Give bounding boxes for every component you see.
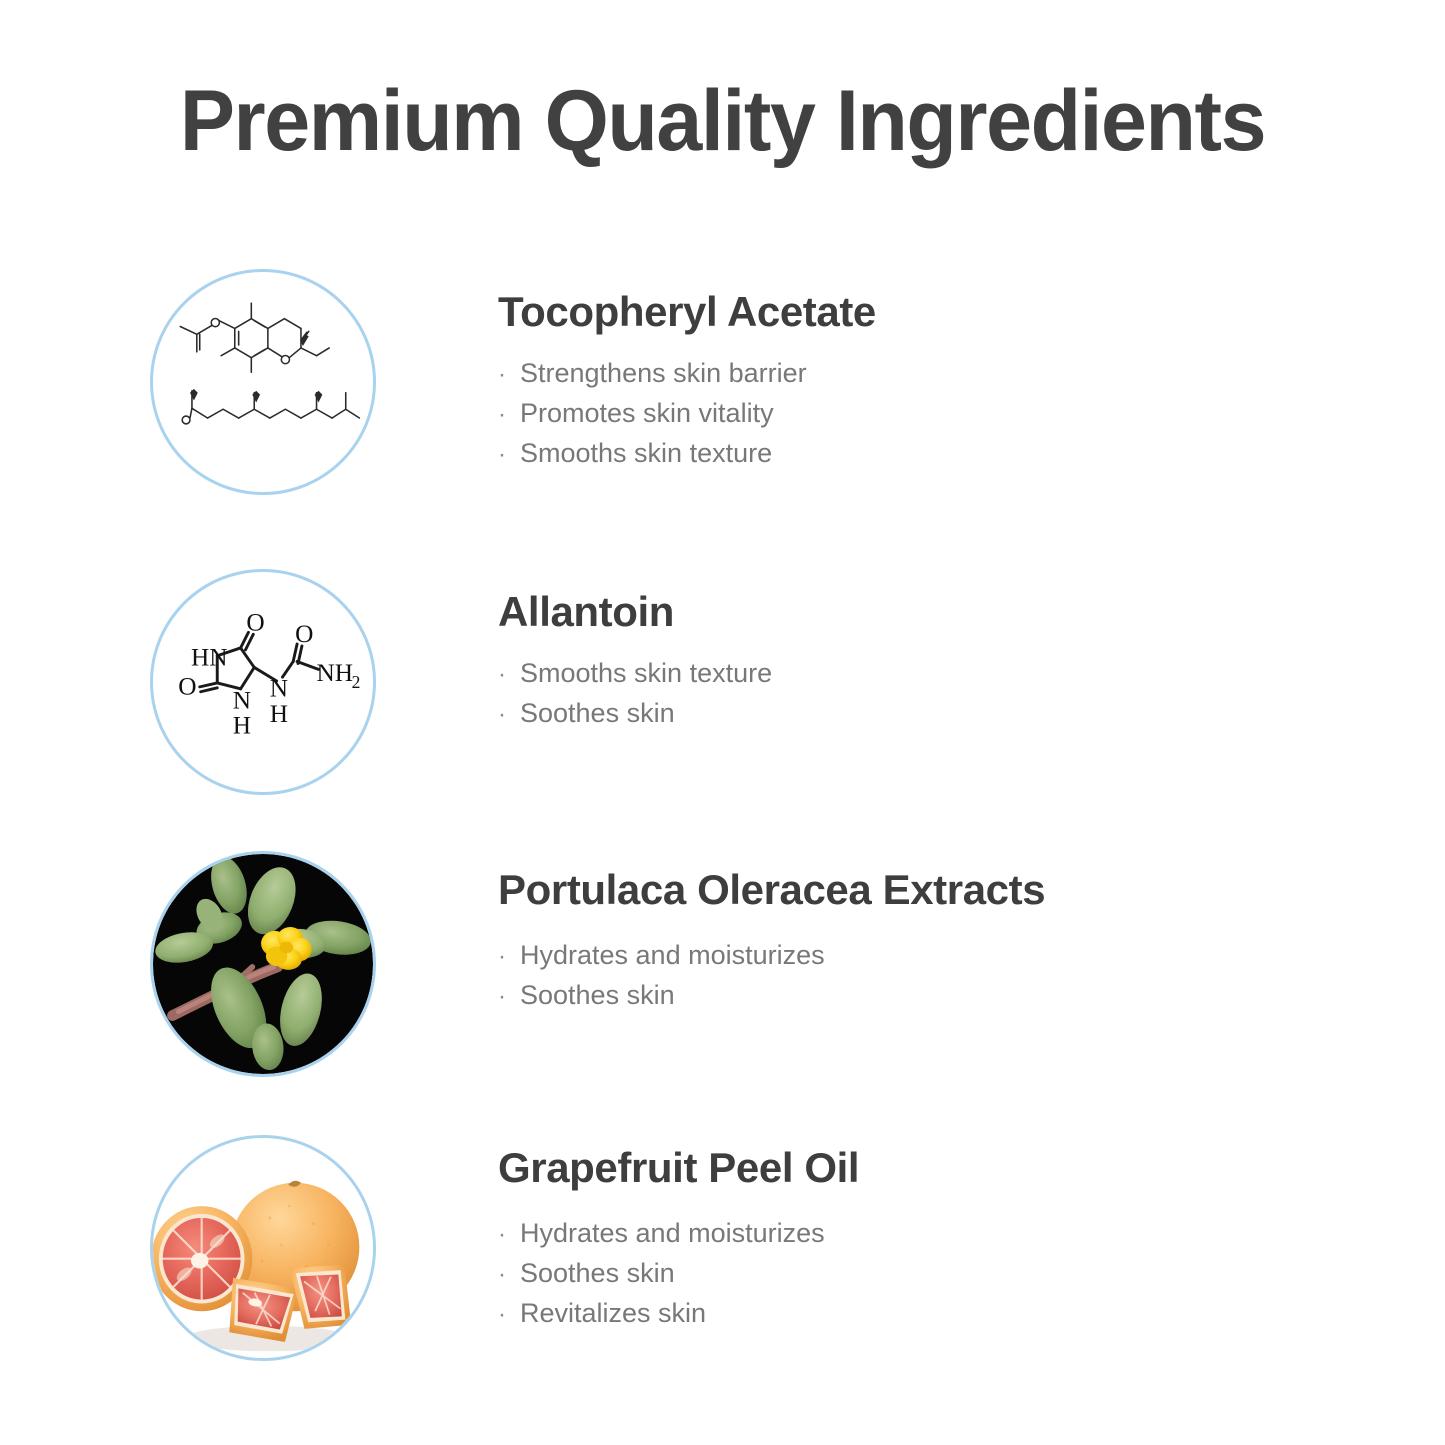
ingredient-text-block: Tocopheryl Acetate ·Strengthens skin bar…: [498, 258, 1318, 480]
ingredient-title: Grapefruit Peel Oil: [498, 1124, 1318, 1190]
bullet-icon: ·: [498, 363, 520, 387]
benefit-list: ·Smooths skin texture ·Soothes skin: [498, 634, 1318, 740]
ingredients-page: Premium Quality Ingredients: [0, 0, 1445, 1445]
purslane-plant-photo: [153, 854, 373, 1074]
list-item: ·Soothes skin: [498, 982, 1318, 1022]
bullet-icon: ·: [498, 663, 520, 687]
bullet-icon: ·: [498, 1223, 520, 1247]
ingredient-text-block: Portulaca Oleracea Extracts ·Hydrates an…: [498, 840, 1318, 1022]
bullet-icon: ·: [498, 945, 520, 969]
ingredient-title: Allantoin: [498, 558, 1318, 634]
ingredient-image-circle: HN O O N H N H O NH 2: [150, 569, 376, 795]
list-item: ·Promotes skin vitality: [498, 400, 1318, 440]
benefit-label: Soothes skin: [520, 1258, 675, 1288]
list-item: ·Revitalizes skin: [498, 1300, 1318, 1340]
bullet-icon: ·: [498, 1303, 520, 1327]
bullet-icon: ·: [498, 443, 520, 467]
bullet-icon: ·: [498, 985, 520, 1009]
tocopheryl-acetate-structure: [153, 272, 373, 492]
benefit-label: Revitalizes skin: [520, 1298, 706, 1328]
list-item: ·Hydrates and moisturizes: [498, 942, 1318, 982]
ingredient-text-block: Grapefruit Peel Oil ·Hydrates and moistu…: [498, 1124, 1318, 1340]
benefit-list: ·Strengthens skin barrier ·Promotes skin…: [498, 334, 1318, 480]
benefit-label: Promotes skin vitality: [520, 398, 774, 428]
page-title: Premium Quality Ingredients: [29, 72, 1416, 171]
benefit-label: Smooths skin texture: [520, 658, 772, 688]
benefit-label: Hydrates and moisturizes: [520, 1218, 825, 1248]
benefit-label: Smooths skin texture: [520, 438, 772, 468]
svg-text:2: 2: [352, 672, 361, 692]
allantoin-structure: HN O O N H N H O NH 2: [153, 572, 373, 792]
grapefruit-photo: [153, 1138, 373, 1358]
svg-text:H: H: [233, 712, 251, 740]
list-item: ·Smooths skin texture: [498, 440, 1318, 480]
bullet-icon: ·: [498, 1263, 520, 1287]
ingredient-image-circle: [150, 1135, 376, 1361]
bullet-icon: ·: [498, 703, 520, 727]
svg-text:N: N: [270, 675, 288, 703]
svg-text:O: O: [246, 608, 264, 636]
list-item: ·Smooths skin texture: [498, 660, 1318, 700]
benefit-label: Soothes skin: [520, 980, 675, 1010]
ingredient-row: Portulaca Oleracea Extracts ·Hydrates an…: [0, 840, 1445, 1122]
svg-text:O: O: [178, 673, 196, 701]
svg-text:H: H: [270, 700, 288, 728]
svg-text:O: O: [295, 620, 313, 648]
svg-text:N: N: [233, 686, 251, 714]
ingredient-title: Portulaca Oleracea Extracts: [498, 840, 1318, 912]
list-item: ·Soothes skin: [498, 700, 1318, 740]
ingredient-image-circle: [150, 269, 376, 495]
svg-text:HN: HN: [191, 643, 228, 671]
benefit-label: Hydrates and moisturizes: [520, 940, 825, 970]
svg-text:NH: NH: [317, 659, 354, 687]
ingredient-row: HN O O N H N H O NH 2 Allantoin ·S: [0, 558, 1445, 840]
list-item: ·Soothes skin: [498, 1260, 1318, 1300]
benefit-label: Strengthens skin barrier: [520, 358, 807, 388]
list-item: ·Hydrates and moisturizes: [498, 1220, 1318, 1260]
ingredient-row: Grapefruit Peel Oil ·Hydrates and moistu…: [0, 1124, 1445, 1406]
bullet-icon: ·: [498, 403, 520, 427]
benefit-list: ·Hydrates and moisturizes ·Soothes skin …: [498, 1190, 1318, 1340]
ingredient-text-block: Allantoin ·Smooths skin texture ·Soothes…: [498, 558, 1318, 740]
benefit-label: Soothes skin: [520, 698, 675, 728]
ingredient-row: Tocopheryl Acetate ·Strengthens skin bar…: [0, 258, 1445, 540]
list-item: ·Strengthens skin barrier: [498, 360, 1318, 400]
ingredient-image-circle: [150, 851, 376, 1077]
benefit-list: ·Hydrates and moisturizes ·Soothes skin: [498, 912, 1318, 1022]
ingredient-title: Tocopheryl Acetate: [498, 258, 1318, 334]
